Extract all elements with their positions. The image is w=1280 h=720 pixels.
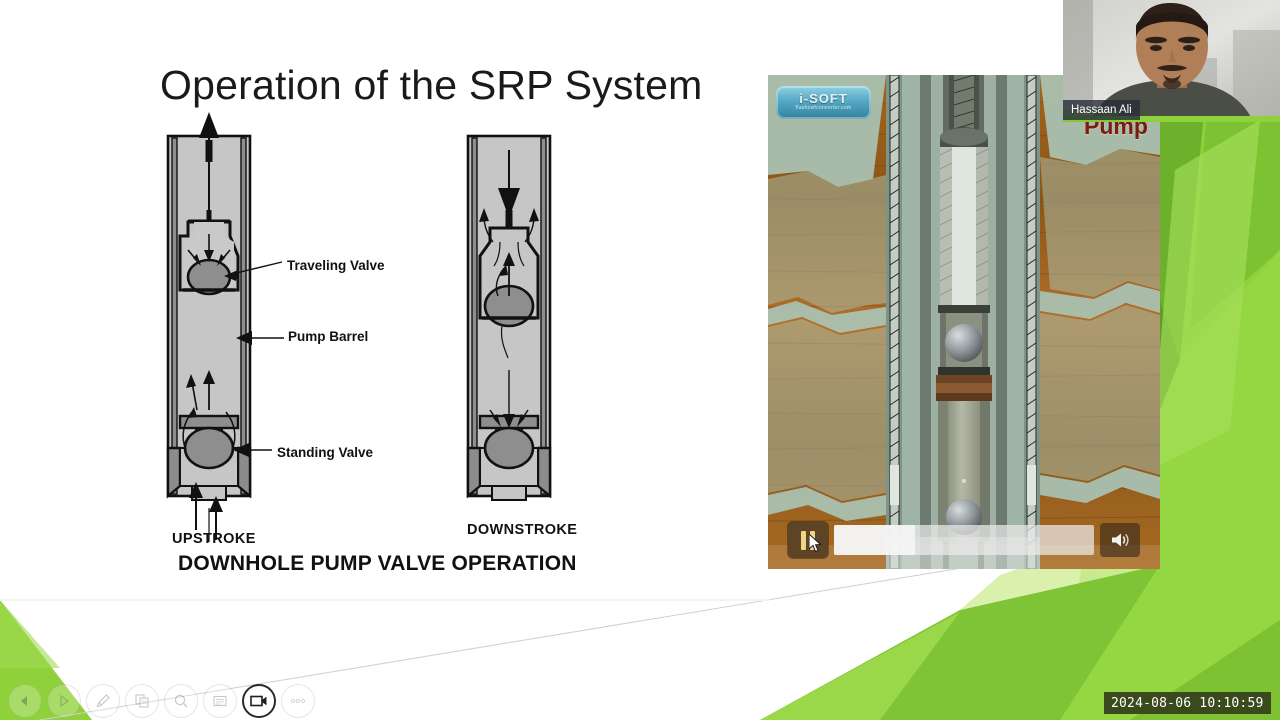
play-pause-button[interactable] (788, 522, 828, 558)
more-options-button[interactable] (281, 684, 315, 718)
embedded-video-player[interactable]: i-SOFT flashswfconverter.com Pump (768, 75, 1160, 569)
volume-button[interactable] (1100, 523, 1140, 557)
slide-thumbnails-button[interactable] (125, 684, 159, 718)
screen-capture-stage: Operation of the SRP System (0, 0, 1280, 720)
presentation-slide: Operation of the SRP System (0, 0, 770, 660)
video-camera-icon (249, 693, 269, 709)
camera-toggle-button[interactable] (242, 684, 276, 718)
label-pump-barrel: Pump Barrel (288, 329, 368, 344)
video-watermark: i-SOFT flashswfconverter.com (776, 86, 871, 119)
page-title: Operation of the SRP System (160, 62, 702, 109)
video-frame-content (768, 75, 1160, 569)
label-traveling-valve: Traveling Valve (287, 258, 385, 273)
label-upstroke: UPSTROKE (172, 531, 256, 547)
mouse-cursor-icon (809, 534, 823, 553)
previous-slide-button[interactable] (8, 684, 42, 718)
notes-panel-button[interactable] (203, 684, 237, 718)
slides-icon (133, 692, 151, 710)
watermark-title: i-SOFT (799, 93, 848, 105)
pen-icon (94, 692, 112, 710)
diagram-caption: DOWNHOLE PUMP VALVE OPERATION (178, 552, 577, 576)
label-downstroke: DOWNSTROKE (467, 522, 577, 538)
next-slide-button[interactable] (47, 684, 81, 718)
participant-name-label: Hassaan Ali (1063, 100, 1140, 120)
zoom-tool-button[interactable] (164, 684, 198, 718)
recording-timestamp: 2024-08-06 10:10:59 (1104, 692, 1271, 714)
video-control-bar[interactable] (788, 519, 1140, 561)
video-progress-fill (834, 525, 915, 555)
downstroke-diagram (468, 136, 550, 500)
downhole-pump-diagram (150, 110, 620, 580)
annotate-pen-button[interactable] (86, 684, 120, 718)
video-progress-bar[interactable] (834, 525, 1094, 555)
ellipsis-icon (288, 697, 308, 705)
play-icon (56, 693, 72, 709)
volume-icon (1110, 532, 1130, 548)
label-standing-valve: Standing Valve (277, 445, 373, 460)
chevron-left-icon (17, 693, 33, 709)
watermark-subtitle: flashswfconverter.com (796, 105, 852, 112)
presenter-toolbar[interactable] (8, 684, 315, 718)
upstroke-diagram (168, 112, 250, 542)
notes-icon (211, 692, 229, 710)
magnifier-icon (172, 692, 190, 710)
